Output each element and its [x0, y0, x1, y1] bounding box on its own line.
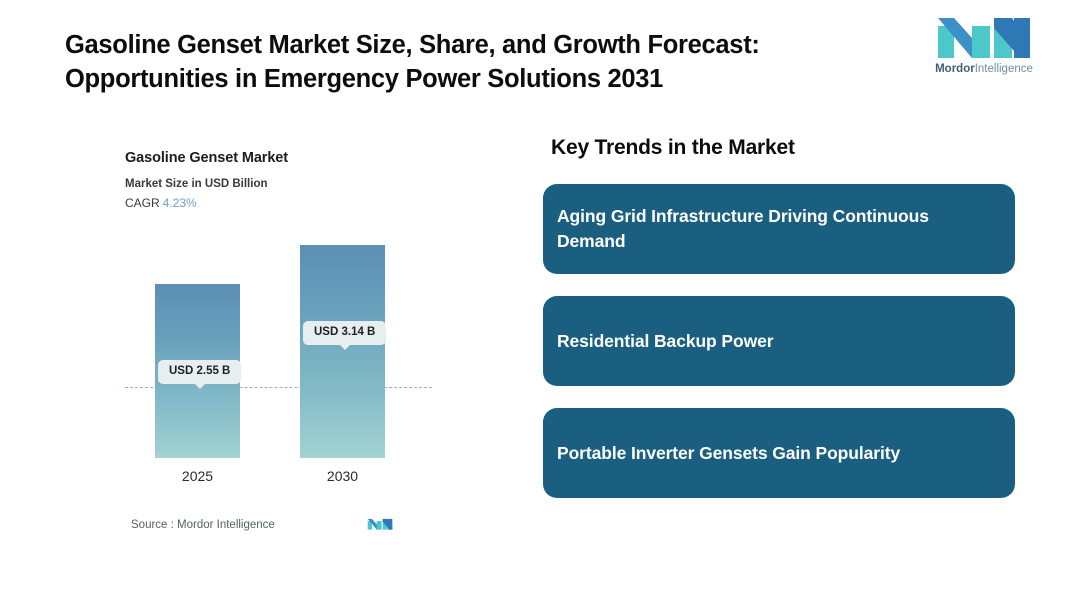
key-trends-heading: Key Trends in the Market [551, 136, 1015, 160]
page-title-line-1: Gasoline Genset Market Size, Share, and … [65, 28, 875, 62]
page-title-line-2: Opportunities in Emergency Power Solutio… [65, 62, 875, 96]
chart-subtitle: Market Size in USD Billion [125, 178, 268, 190]
bar-chart-plot-area: USD 2.55 B USD 3.14 B 2025 2030 [118, 228, 448, 486]
mordor-m-logo-icon [928, 14, 1040, 60]
x-axis-label-2025: 2025 [155, 468, 240, 484]
brand-name-light: Intelligence [975, 63, 1033, 75]
bar-2030 [300, 245, 385, 458]
mordor-m-logo-icon [365, 516, 395, 532]
chart-source-text: Source : Mordor Intelligence [131, 519, 275, 531]
chart-title: Gasoline Genset Market [125, 150, 288, 166]
bar-value-badge-2030: USD 3.14 B [303, 321, 386, 345]
brand-name-bold: Mordor [935, 63, 975, 75]
page-title: Gasoline Genset Market Size, Share, and … [65, 28, 875, 96]
trend-card-2-label: Residential Backup Power [557, 329, 773, 354]
trend-card-3-label: Portable Inverter Gensets Gain Popularit… [557, 441, 900, 466]
trend-card-1-label: Aging Grid Infrastructure Driving Contin… [557, 204, 1001, 254]
bar-value-badge-2025: USD 2.55 B [158, 360, 241, 384]
page-header: Gasoline Genset Market Size, Share, and … [0, 0, 1080, 112]
x-axis-label-2030: 2030 [300, 468, 385, 484]
key-trends-panel: Key Trends in the Market Aging Grid Infr… [543, 136, 1015, 520]
brand-wordmark: MordorIntelligence [928, 62, 1040, 76]
cagr-label: CAGR [125, 196, 160, 210]
chart-panel: Gasoline Genset Market Market Size in US… [118, 150, 448, 550]
cagr-value: 4.23% [163, 196, 197, 210]
chart-source-row: Source : Mordor Intelligence [125, 516, 455, 538]
brand-logo: MordorIntelligence [928, 14, 1040, 80]
trend-card-2[interactable]: Residential Backup Power [543, 296, 1015, 386]
chart-cagr: CAGR4.23% [125, 196, 197, 210]
trend-card-1[interactable]: Aging Grid Infrastructure Driving Contin… [543, 184, 1015, 274]
trend-card-3[interactable]: Portable Inverter Gensets Gain Popularit… [543, 408, 1015, 498]
